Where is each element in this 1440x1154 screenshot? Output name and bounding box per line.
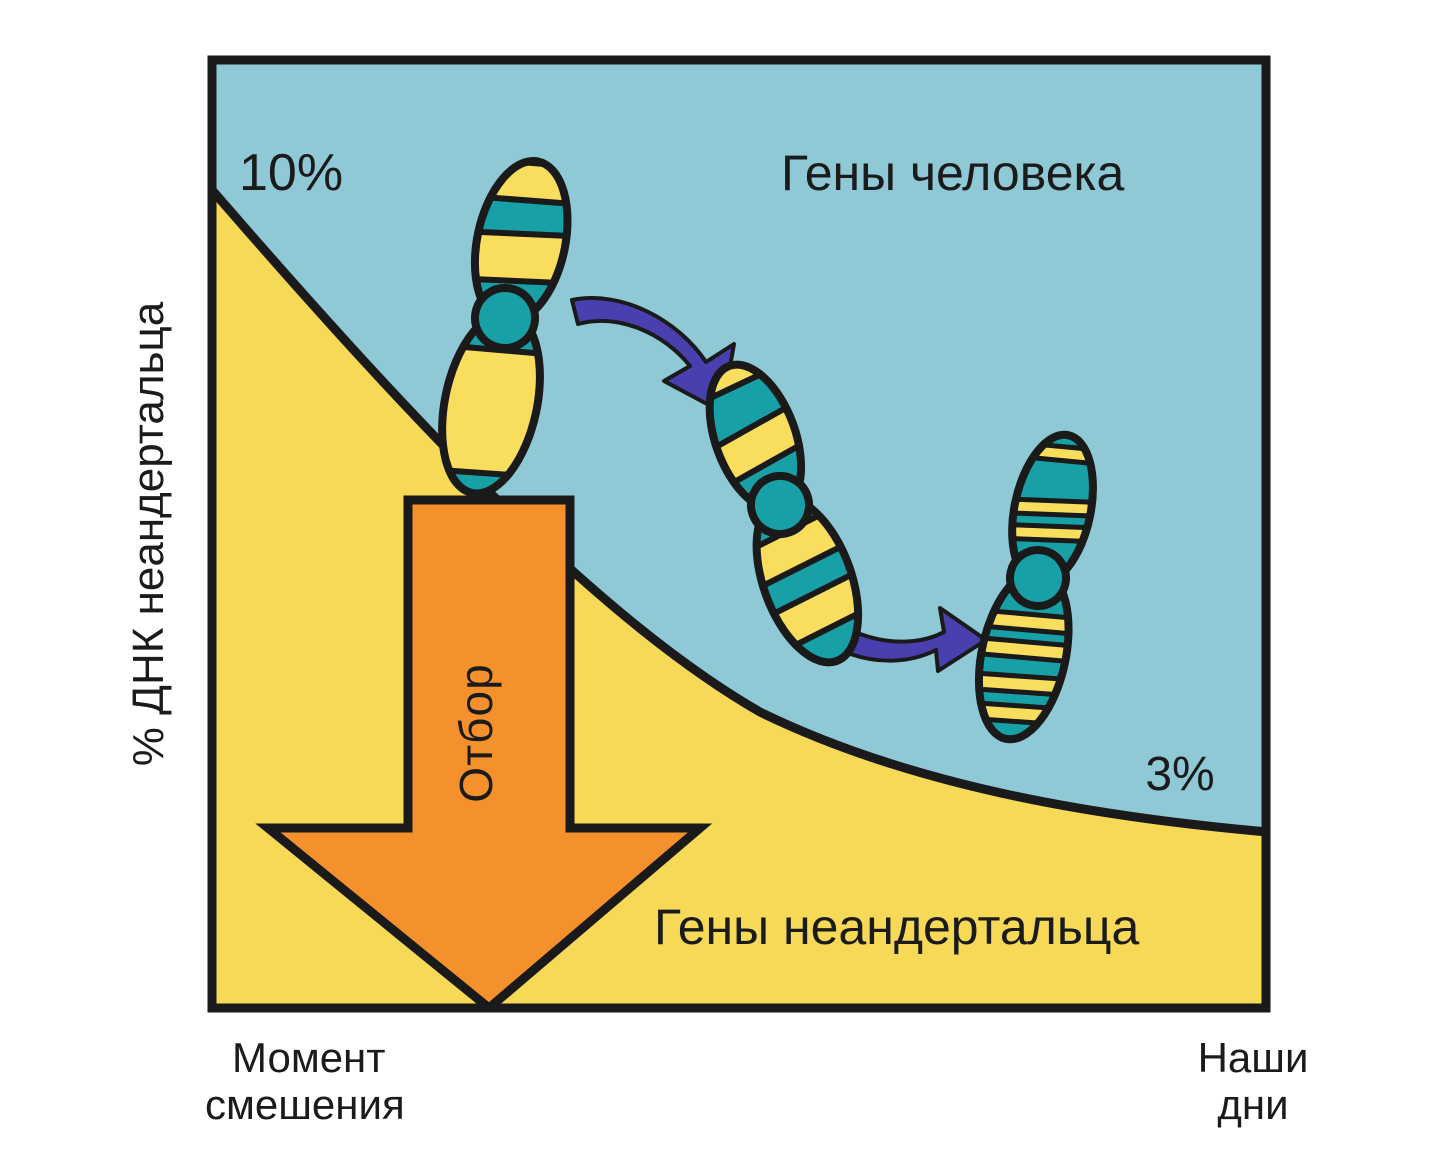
neanderthal-dna-infographic: Отбор [0,0,1440,1154]
start-value-label: 10% [239,144,343,202]
human-genes-label: Гены человека [781,145,1125,201]
selection-arrow-label: Отбор [450,663,502,802]
neanderthal-genes-label: Гены неандертальца [654,899,1140,955]
x-axis-label-right-line2: дни [1217,1081,1288,1128]
x-axis-label-left-line2: смешения [205,1081,405,1128]
y-axis-label: % ДНК неандертальца [124,301,173,766]
end-value-label: 3% [1145,748,1214,801]
x-axis-label-left-line1: Момент [232,1034,385,1081]
x-axis-label-right-line1: Наши [1198,1034,1309,1081]
infographic-canvas: Отбор [0,0,1440,1154]
